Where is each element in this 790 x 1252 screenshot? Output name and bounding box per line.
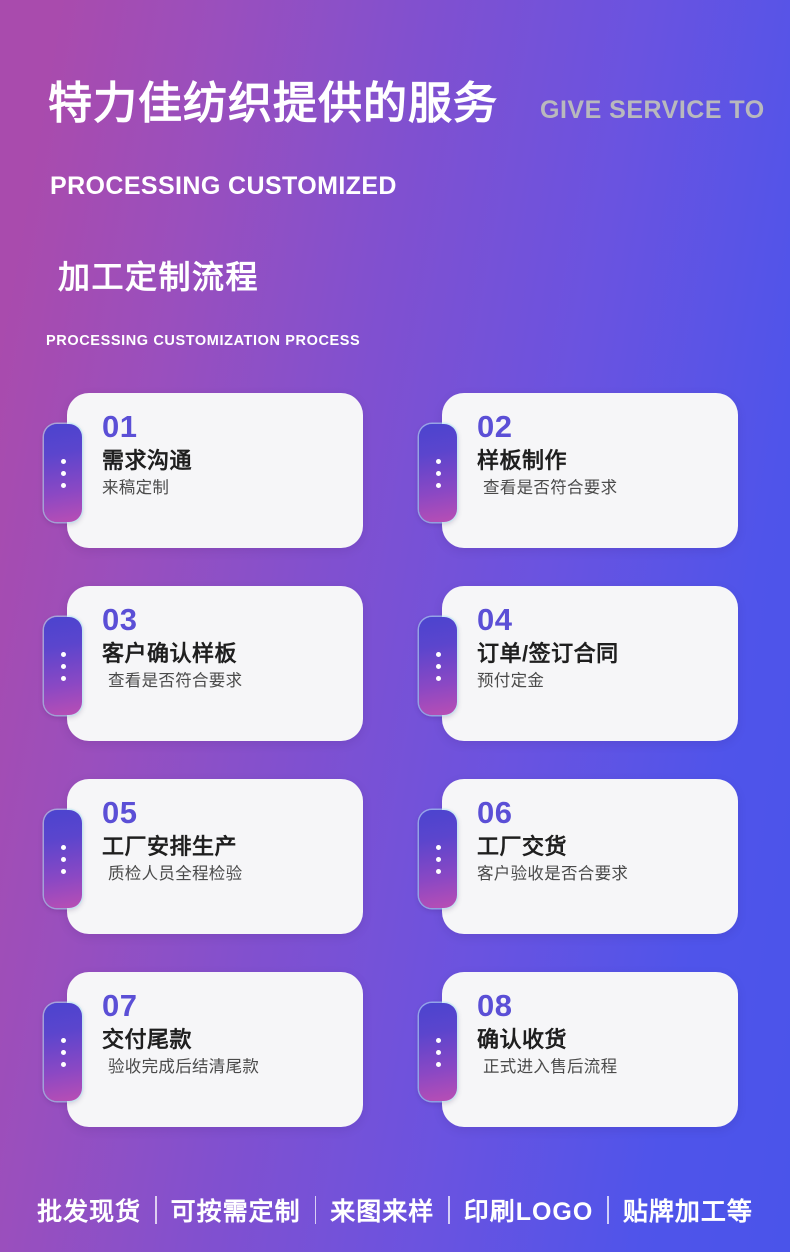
page-title: 特力佳纺织提供的服务 — [48, 82, 498, 126]
footer-tag-list: 批发现货 可按需定制 来图来样 印刷LOGO 贴牌加工等 — [0, 1192, 790, 1228]
card-body: 06 工厂交货 客户验收是否合要求 — [477, 797, 726, 885]
dot-icon — [436, 483, 441, 488]
step-title: 样板制作 — [477, 447, 726, 475]
page-title-english: GIVE SERVICE TO — [540, 96, 765, 125]
process-row: 07 交付尾款 验收完成后结清尾款 08 确认收货 正式进入售后流程 — [0, 972, 790, 1127]
process-step-card[interactable]: 05 工厂安排生产 质检人员全程检验 — [67, 779, 363, 934]
dot-icon — [436, 869, 441, 874]
step-number: 06 — [477, 797, 726, 830]
step-title: 需求沟通 — [102, 447, 351, 475]
step-number: 01 — [102, 411, 351, 444]
process-step-card[interactable]: 03 客户确认样板 查看是否符合要求 — [67, 586, 363, 741]
drag-handle-dots-icon — [419, 1003, 457, 1101]
step-title: 交付尾款 — [102, 1026, 351, 1054]
step-description: 质检人员全程检验 — [102, 864, 351, 885]
dot-icon — [436, 459, 441, 464]
dot-icon — [61, 459, 66, 464]
footer-tag: 可按需定制 — [157, 1192, 315, 1228]
footer-tag: 来图来样 — [316, 1192, 448, 1228]
section-title: 加工定制流程 — [58, 258, 259, 296]
dot-icon — [436, 664, 441, 669]
step-title: 订单/签订合同 — [477, 640, 726, 668]
process-step-card[interactable]: 06 工厂交货 客户验收是否合要求 — [442, 779, 738, 934]
drag-handle-dots-icon — [44, 810, 82, 908]
dot-icon — [61, 1038, 66, 1043]
step-number: 04 — [477, 604, 726, 637]
process-step-card[interactable]: 02 样板制作 查看是否符合要求 — [442, 393, 738, 548]
process-row: 05 工厂安排生产 质检人员全程检验 06 工厂交货 客户验收是否合要求 — [0, 779, 790, 934]
dot-icon — [436, 857, 441, 862]
step-description: 来稿定制 — [102, 478, 351, 499]
card-body: 01 需求沟通 来稿定制 — [102, 411, 351, 499]
dot-icon — [436, 652, 441, 657]
footer-tag: 贴牌加工等 — [609, 1192, 767, 1228]
dot-icon — [436, 1038, 441, 1043]
card-body: 02 样板制作 查看是否符合要求 — [477, 411, 726, 499]
dot-icon — [61, 652, 66, 657]
drag-handle-dots-icon — [44, 617, 82, 715]
step-description: 验收完成后结清尾款 — [102, 1057, 351, 1078]
process-step-card[interactable]: 07 交付尾款 验收完成后结清尾款 — [67, 972, 363, 1127]
step-title: 客户确认样板 — [102, 640, 351, 668]
page-subtitle-english: PROCESSING CUSTOMIZED — [50, 172, 397, 201]
dot-icon — [61, 1062, 66, 1067]
step-number: 07 — [102, 990, 351, 1023]
page-header: 特力佳纺织提供的服务 GIVE SERVICE TO PROCESSING CU… — [0, 0, 790, 232]
drag-handle-dots-icon — [419, 617, 457, 715]
process-row: 03 客户确认样板 查看是否符合要求 04 订单/签订合同 预付定金 — [0, 586, 790, 741]
step-description: 查看是否符合要求 — [477, 478, 726, 499]
step-title: 确认收货 — [477, 1026, 726, 1054]
dot-icon — [61, 869, 66, 874]
process-step-card[interactable]: 08 确认收货 正式进入售后流程 — [442, 972, 738, 1127]
process-steps-grid: 01 需求沟通 来稿定制 02 样板制作 查看是否符合要求 — [0, 393, 790, 1165]
card-body: 03 客户确认样板 查看是否符合要求 — [102, 604, 351, 692]
dot-icon — [61, 1050, 66, 1055]
step-number: 08 — [477, 990, 726, 1023]
dot-icon — [61, 483, 66, 488]
step-number: 03 — [102, 604, 351, 637]
step-number: 02 — [477, 411, 726, 444]
section-subtitle-english: PROCESSING CUSTOMIZATION PROCESS — [46, 333, 360, 349]
card-body: 04 订单/签订合同 预付定金 — [477, 604, 726, 692]
step-description: 查看是否符合要求 — [102, 671, 351, 692]
step-number: 05 — [102, 797, 351, 830]
process-step-card[interactable]: 04 订单/签订合同 预付定金 — [442, 586, 738, 741]
card-body: 05 工厂安排生产 质检人员全程检验 — [102, 797, 351, 885]
footer-tag: 印刷LOGO — [450, 1192, 608, 1228]
dot-icon — [436, 471, 441, 476]
drag-handle-dots-icon — [44, 1003, 82, 1101]
card-body: 07 交付尾款 验收完成后结清尾款 — [102, 990, 351, 1078]
step-description: 预付定金 — [477, 671, 726, 692]
process-step-card[interactable]: 01 需求沟通 来稿定制 — [67, 393, 363, 548]
dot-icon — [61, 471, 66, 476]
dot-icon — [61, 676, 66, 681]
step-title: 工厂交货 — [477, 833, 726, 861]
dot-icon — [61, 857, 66, 862]
drag-handle-dots-icon — [419, 424, 457, 522]
dot-icon — [436, 845, 441, 850]
drag-handle-dots-icon — [44, 424, 82, 522]
dot-icon — [436, 1050, 441, 1055]
footer-tag: 批发现货 — [23, 1192, 155, 1228]
card-body: 08 确认收货 正式进入售后流程 — [477, 990, 726, 1078]
step-description: 客户验收是否合要求 — [477, 864, 726, 885]
dot-icon — [436, 1062, 441, 1067]
dot-icon — [61, 664, 66, 669]
step-description: 正式进入售后流程 — [477, 1057, 726, 1078]
process-row: 01 需求沟通 来稿定制 02 样板制作 查看是否符合要求 — [0, 393, 790, 548]
dot-icon — [436, 676, 441, 681]
drag-handle-dots-icon — [419, 810, 457, 908]
title-row: 特力佳纺织提供的服务 GIVE SERVICE TO — [48, 82, 765, 126]
step-title: 工厂安排生产 — [102, 833, 351, 861]
dot-icon — [61, 845, 66, 850]
